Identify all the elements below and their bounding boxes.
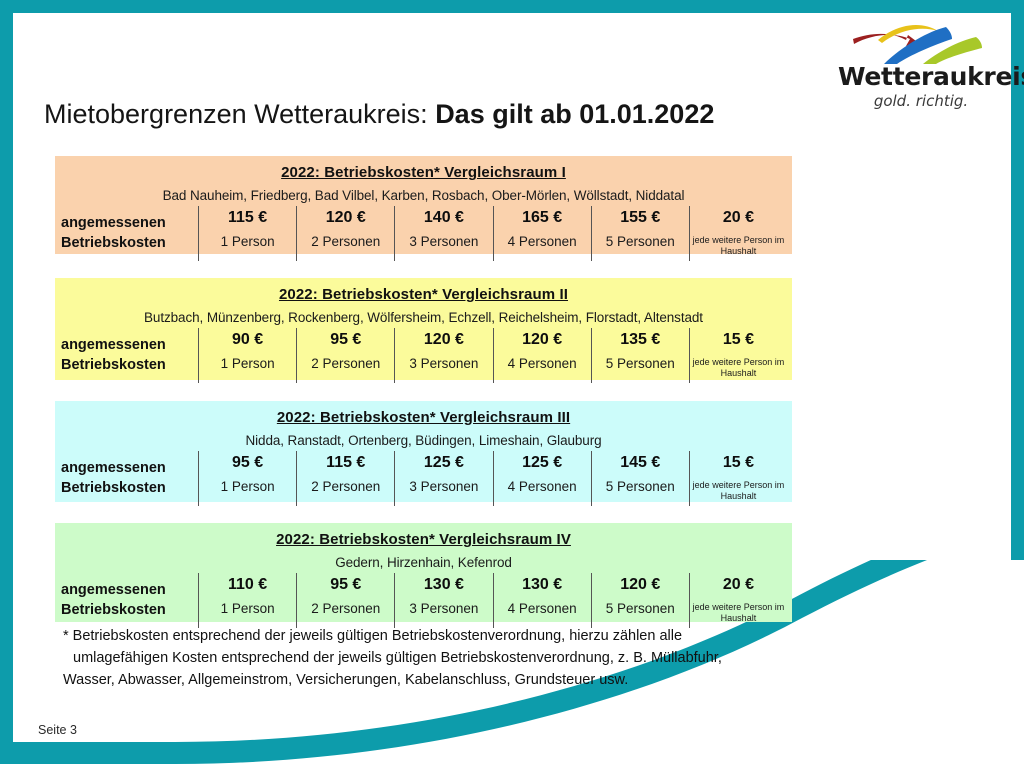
- footnote-line-1: * Betriebskosten entsprechend der jeweil…: [63, 625, 763, 647]
- cost-persons: 5 Personen: [606, 474, 675, 497]
- block-places: Gedern, Hirzenhain, Kefenrod: [55, 548, 792, 570]
- cost-amount: 165 €: [522, 207, 562, 229]
- extra-line1: jede weitere Person im: [693, 357, 785, 367]
- row-label: angemessenen Betriebskosten: [61, 573, 198, 628]
- cost-cell-2-persons: 115 € 2 Personen: [296, 451, 394, 506]
- extra-line2: Haushalt: [721, 368, 757, 378]
- cost-persons: 4 Personen: [508, 596, 577, 619]
- extra-line1: jede weitere Person im: [693, 480, 785, 490]
- cost-cell-2-persons: 95 € 2 Personen: [296, 328, 394, 383]
- cost-cell-3-persons: 140 € 3 Personen: [394, 206, 492, 261]
- cost-cell-extra-person: 15 € jede weitere Person imHaushalt: [689, 451, 787, 506]
- extra-line2: Haushalt: [721, 491, 757, 501]
- cost-amount: 95 €: [330, 329, 361, 351]
- block-title: 2022: Betriebskosten* Vergleichsraum III: [55, 401, 792, 426]
- row-label-line1: angemessenen: [61, 581, 198, 600]
- cost-persons: 4 Personen: [508, 229, 577, 252]
- cost-amount: 110 €: [228, 574, 267, 596]
- cost-persons-extra: jede weitere Person imHaushalt: [693, 351, 785, 380]
- cost-persons: 1 Person: [221, 229, 275, 252]
- cost-persons: 3 Personen: [409, 229, 478, 252]
- cost-amount: 120 €: [620, 574, 660, 596]
- cost-persons: 3 Personen: [409, 474, 478, 497]
- cost-amount: 90 €: [232, 329, 263, 351]
- cost-amount: 120 €: [522, 329, 562, 351]
- row-label: angemessenen Betriebskosten: [61, 206, 198, 261]
- cost-cell-5-persons: 135 € 5 Personen: [591, 328, 689, 383]
- cost-cell-3-persons: 120 € 3 Personen: [394, 328, 492, 383]
- cost-cell-extra-person: 20 € jede weitere Person imHaushalt: [689, 573, 787, 628]
- row-label-line1: angemessenen: [61, 214, 198, 233]
- cost-amount: 125 €: [522, 452, 562, 474]
- cost-amount: 140 €: [424, 207, 464, 229]
- footnote: * Betriebskosten entsprechend der jeweil…: [63, 625, 763, 691]
- cost-cell-1-person: 110 € 1 Person: [198, 573, 296, 628]
- row-label: angemessenen Betriebskosten: [61, 328, 198, 383]
- frame-top-bar: [0, 0, 1024, 13]
- footnote-line-3: Wasser, Abwasser, Allgemeinstrom, Versic…: [63, 669, 763, 691]
- wetteraukreis-logo: Wetteraukreis gold. richtig.: [838, 22, 1004, 110]
- cost-persons: 2 Personen: [311, 351, 380, 374]
- cost-amount: 120 €: [326, 207, 366, 229]
- cost-persons-extra: jede weitere Person imHaushalt: [693, 596, 785, 625]
- page-title-bold: Das gilt ab 01.01.2022: [435, 99, 714, 129]
- cost-persons: 2 Personen: [311, 229, 380, 252]
- block-grid: angemessenen Betriebskosten 110 € 1 Pers…: [55, 573, 792, 628]
- block-places: Nidda, Ranstadt, Ortenberg, Büdingen, Li…: [55, 426, 792, 448]
- cost-persons: 4 Personen: [508, 474, 577, 497]
- cost-amount: 125 €: [424, 452, 464, 474]
- cost-cell-1-person: 90 € 1 Person: [198, 328, 296, 383]
- cost-cell-1-person: 115 € 1 Person: [198, 206, 296, 261]
- slide-canvas: Wetteraukreis gold. richtig. Mietobergre…: [0, 0, 1024, 768]
- cost-amount: 135 €: [620, 329, 660, 351]
- row-label-line1: angemessenen: [61, 459, 198, 478]
- row-label-line1: angemessenen: [61, 336, 198, 355]
- cost-cell-extra-person: 15 € jede weitere Person imHaushalt: [689, 328, 787, 383]
- extra-line1: jede weitere Person im: [693, 235, 785, 245]
- row-label-line2: Betriebskosten: [61, 356, 198, 375]
- row-label-line2: Betriebskosten: [61, 601, 198, 620]
- row-label: angemessenen Betriebskosten: [61, 451, 198, 506]
- vergleichsraum-block-4: 2022: Betriebskosten* Vergleichsraum IV …: [55, 523, 792, 622]
- cost-persons: 2 Personen: [311, 474, 380, 497]
- extra-line2: Haushalt: [721, 613, 757, 623]
- cost-amount: 15 €: [723, 452, 754, 474]
- cost-cell-2-persons: 95 € 2 Personen: [296, 573, 394, 628]
- block-title: 2022: Betriebskosten* Vergleichsraum II: [55, 278, 792, 303]
- cost-amount: 130 €: [522, 574, 562, 596]
- footnote-line-2: umlagefähigen Kosten entsprechend der je…: [63, 647, 763, 669]
- vergleichsraum-block-3: 2022: Betriebskosten* Vergleichsraum III…: [55, 401, 792, 502]
- block-title: 2022: Betriebskosten* Vergleichsraum I: [55, 156, 792, 181]
- cost-cell-3-persons: 130 € 3 Personen: [394, 573, 492, 628]
- cost-persons: 1 Person: [221, 596, 275, 619]
- cost-amount: 130 €: [424, 574, 464, 596]
- cost-cell-2-persons: 120 € 2 Personen: [296, 206, 394, 261]
- cost-persons-extra: jede weitere Person imHaushalt: [693, 229, 785, 258]
- cost-cell-4-persons: 120 € 4 Personen: [493, 328, 591, 383]
- cost-amount: 95 €: [330, 574, 361, 596]
- cost-persons: 4 Personen: [508, 351, 577, 374]
- logo-wordmark: Wetteraukreis: [838, 62, 1004, 91]
- cost-amount: 145 €: [620, 452, 660, 474]
- block-places: Butzbach, Münzenberg, Rockenberg, Wölfer…: [55, 303, 792, 325]
- block-places: Bad Nauheim, Friedberg, Bad Vilbel, Karb…: [55, 181, 792, 203]
- cost-persons: 1 Person: [221, 474, 275, 497]
- cost-cell-1-person: 95 € 1 Person: [198, 451, 296, 506]
- extra-line2: Haushalt: [721, 246, 757, 256]
- cost-amount: 95 €: [232, 452, 263, 474]
- cost-amount: 120 €: [424, 329, 464, 351]
- cost-persons: 3 Personen: [409, 351, 478, 374]
- cost-cell-4-persons: 130 € 4 Personen: [493, 573, 591, 628]
- logo-swoosh-mark: [848, 22, 998, 64]
- logo-claim: gold. richtig.: [838, 92, 1004, 110]
- cost-amount: 115 €: [326, 452, 365, 474]
- cost-persons: 5 Personen: [606, 351, 675, 374]
- vergleichsraum-block-2: 2022: Betriebskosten* Vergleichsraum II …: [55, 278, 792, 380]
- row-label-line2: Betriebskosten: [61, 234, 198, 253]
- extra-line1: jede weitere Person im: [693, 602, 785, 612]
- cost-amount: 20 €: [723, 207, 754, 229]
- block-grid: angemessenen Betriebskosten 95 € 1 Perso…: [55, 451, 792, 506]
- cost-cell-3-persons: 125 € 3 Personen: [394, 451, 492, 506]
- block-title: 2022: Betriebskosten* Vergleichsraum IV: [55, 523, 792, 548]
- cost-amount: 115 €: [228, 207, 267, 229]
- cost-cell-5-persons: 120 € 5 Personen: [591, 573, 689, 628]
- cost-cell-4-persons: 125 € 4 Personen: [493, 451, 591, 506]
- cost-amount: 15 €: [723, 329, 754, 351]
- cost-persons-extra: jede weitere Person imHaushalt: [693, 474, 785, 503]
- cost-persons: 1 Person: [221, 351, 275, 374]
- page-title: Mietobergrenzen Wetteraukreis: Das gilt …: [44, 99, 714, 130]
- cost-cell-extra-person: 20 € jede weitere Person imHaushalt: [689, 206, 787, 261]
- block-grid: angemessenen Betriebskosten 90 € 1 Perso…: [55, 328, 792, 383]
- block-grid: angemessenen Betriebskosten 115 € 1 Pers…: [55, 206, 792, 261]
- cost-persons: 5 Personen: [606, 596, 675, 619]
- page-title-thin: Mietobergrenzen Wetteraukreis:: [44, 99, 435, 129]
- vergleichsraum-block-1: 2022: Betriebskosten* Vergleichsraum I B…: [55, 156, 792, 254]
- cost-amount: 155 €: [620, 207, 660, 229]
- cost-amount: 20 €: [723, 574, 754, 596]
- cost-persons: 5 Personen: [606, 229, 675, 252]
- cost-cell-5-persons: 145 € 5 Personen: [591, 451, 689, 506]
- cost-cell-4-persons: 165 € 4 Personen: [493, 206, 591, 261]
- cost-cell-5-persons: 155 € 5 Personen: [591, 206, 689, 261]
- cost-persons: 3 Personen: [409, 596, 478, 619]
- row-label-line2: Betriebskosten: [61, 479, 198, 498]
- frame-right-bar: [1011, 0, 1024, 620]
- page-number: Seite 3: [38, 723, 77, 737]
- cost-persons: 2 Personen: [311, 596, 380, 619]
